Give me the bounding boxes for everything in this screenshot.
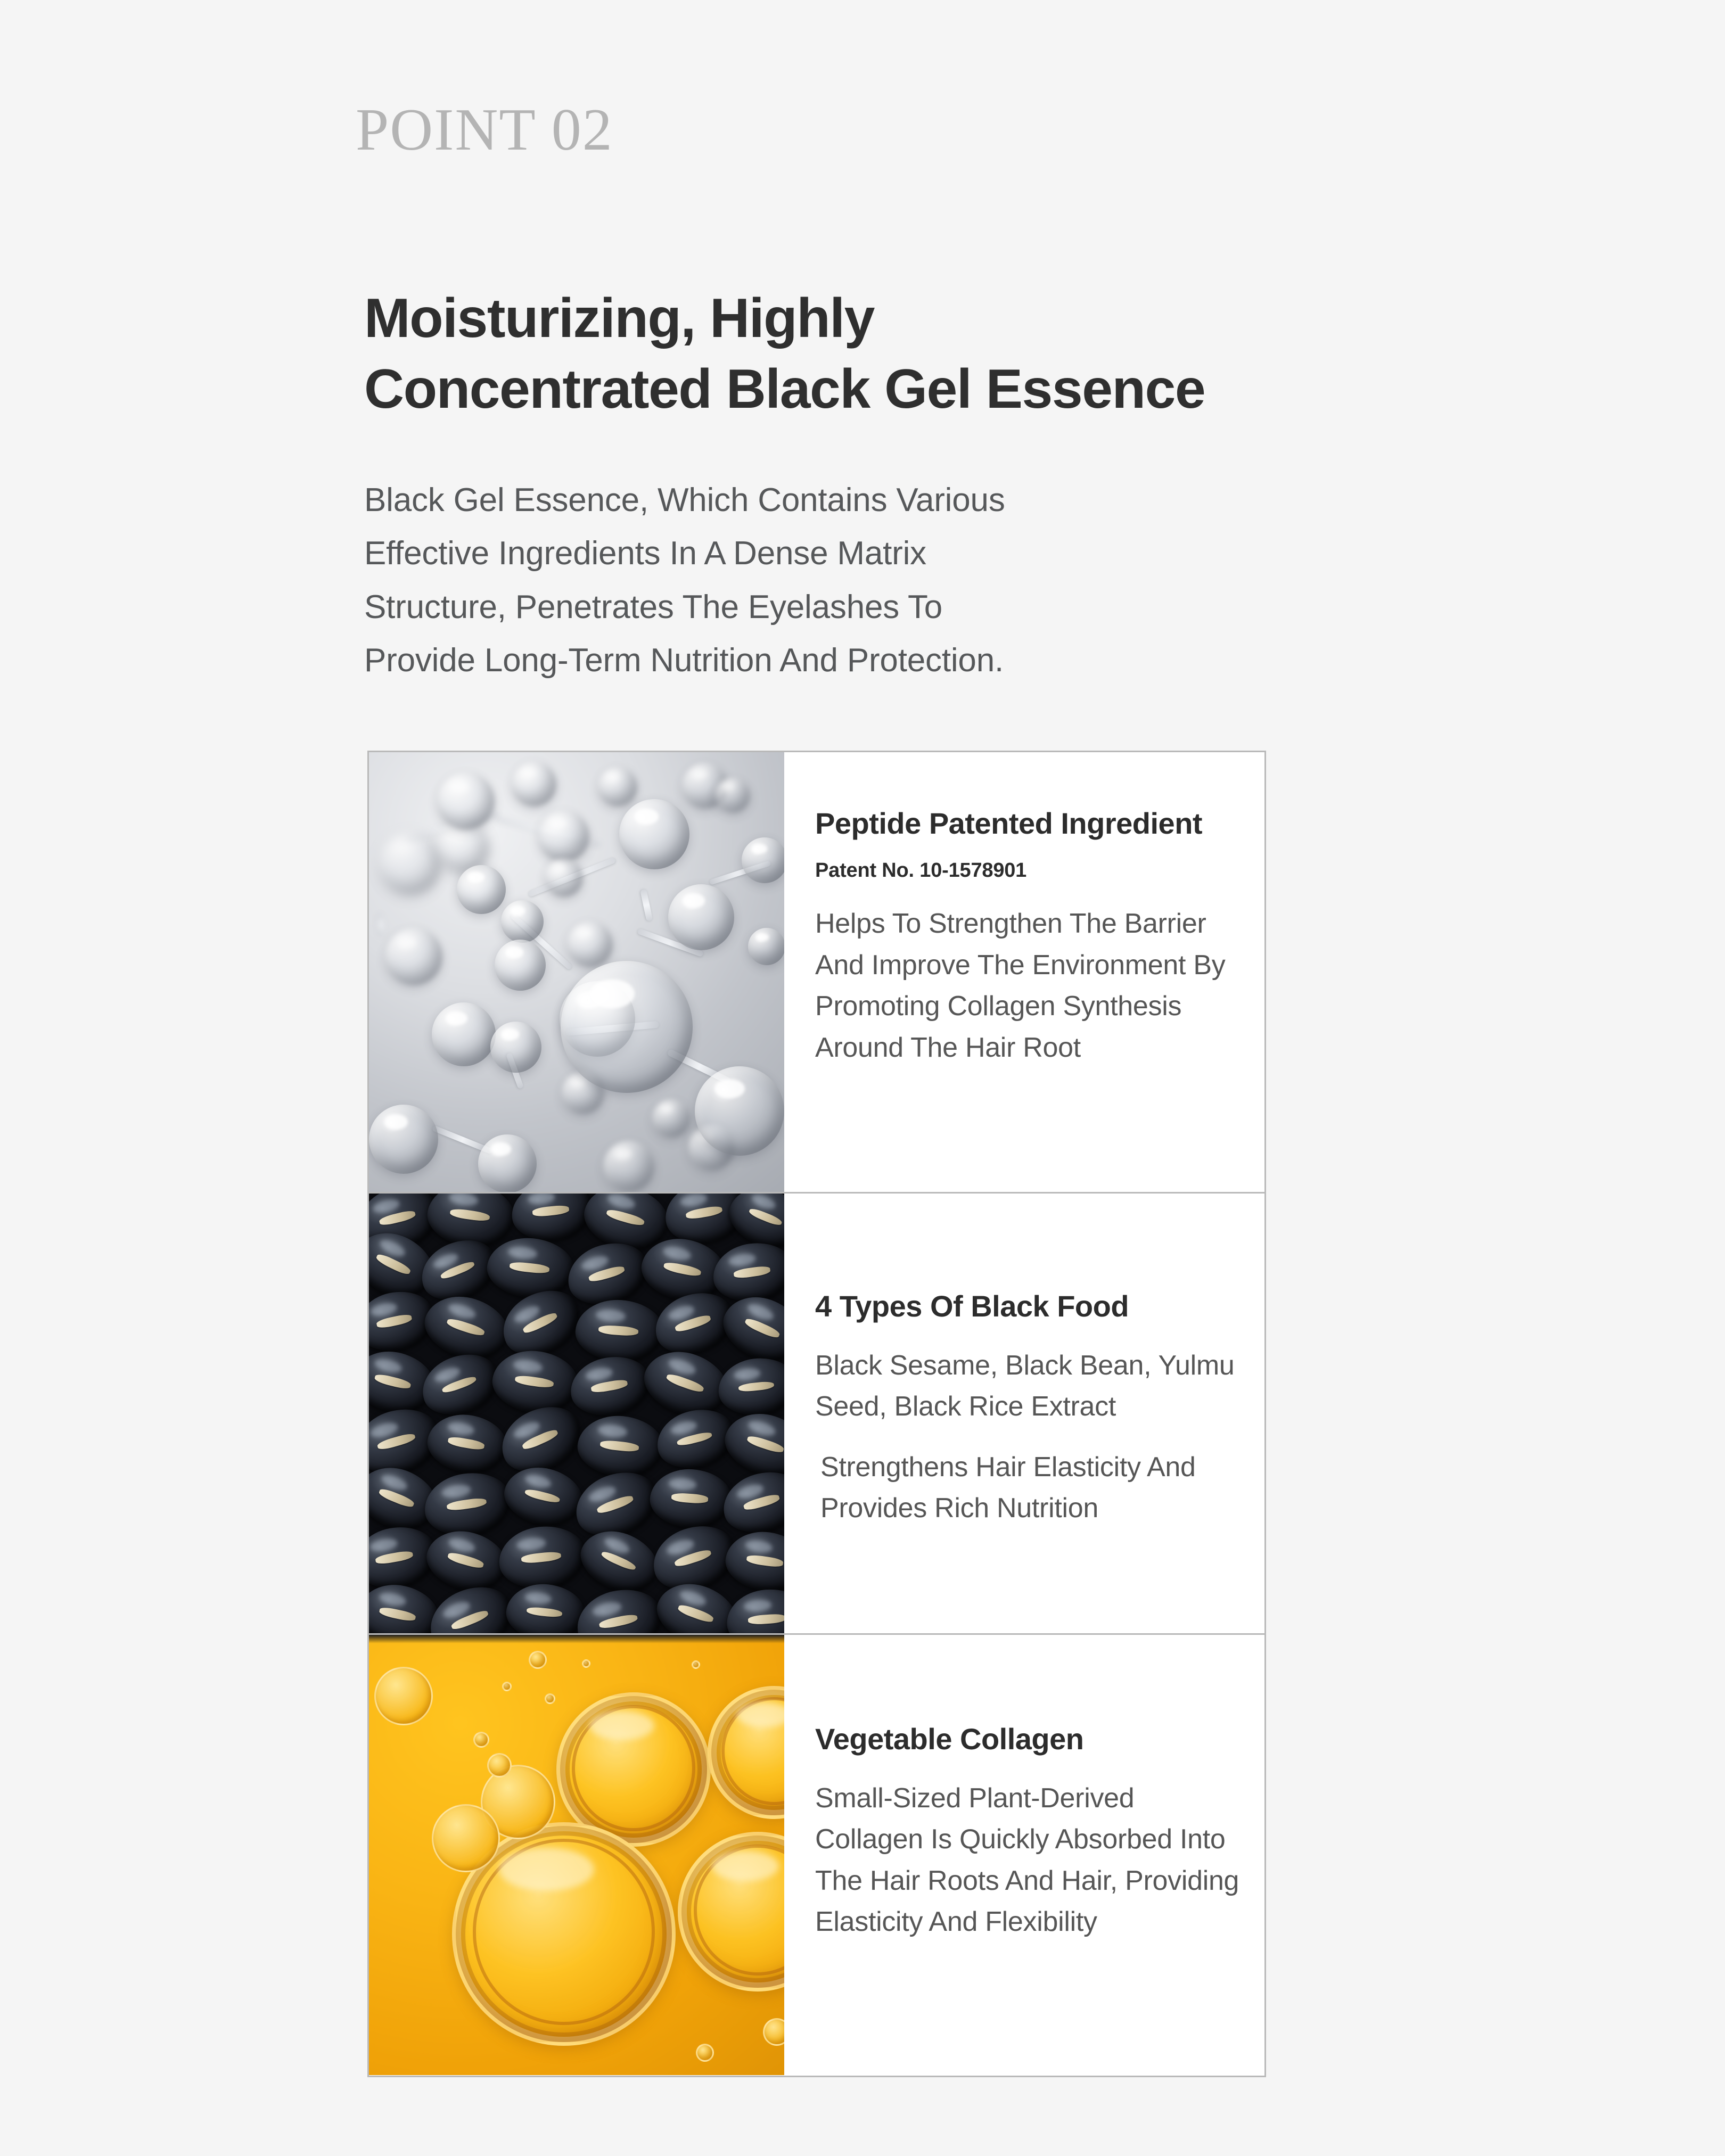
black-beans-artwork	[369, 1194, 784, 1633]
ingredient-content: Peptide Patented Ingredient Patent No. 1…	[784, 752, 1264, 1192]
oil-bubbles-artwork	[369, 1635, 784, 2075]
ingredient-row: Vegetable Collagen Small-Sized Plant-Der…	[369, 1635, 1264, 2075]
oil-dark-edge	[369, 1635, 784, 1643]
ingredient-row: Peptide Patented Ingredient Patent No. 1…	[369, 752, 1264, 1194]
ingredient-description-secondary: Strengthens Hair Elasticity And Provides…	[820, 1447, 1240, 1529]
molecule-structure-photo	[369, 752, 784, 1192]
molecule-artwork	[369, 752, 784, 1192]
page-description: Black Gel Essence, Which Contains Variou…	[364, 474, 1301, 688]
point-eyebrow-label: POINT 02	[356, 100, 613, 160]
page-title-line-2: Concentrated Black Gel Essence	[364, 354, 1504, 425]
page-description-line-2: Effective Ingredients In A Dense Matrix	[364, 527, 1301, 580]
ingredient-content: 4 Types Of Black Food Black Sesame, Blac…	[784, 1194, 1264, 1633]
page-description-line-4: Provide Long-Term Nutrition And Protecti…	[364, 634, 1301, 687]
product-detail-page: POINT 02 Moisturizing, Highly Concentrat…	[0, 0, 1725, 2156]
ingredient-title: Vegetable Collagen	[815, 1720, 1240, 1759]
ingredient-table: Peptide Patented Ingredient Patent No. 1…	[367, 751, 1266, 2077]
ingredient-description: Helps To Strengthen The Barrier And Impr…	[815, 903, 1240, 1068]
ingredient-content: Vegetable Collagen Small-Sized Plant-Der…	[784, 1635, 1264, 2075]
black-beans-photo	[369, 1194, 784, 1633]
page-title-line-1: Moisturizing, Highly	[364, 283, 1504, 354]
ingredient-title: 4 Types Of Black Food	[815, 1287, 1240, 1326]
ingredient-description: Black Sesame, Black Bean, Yulmu Seed, Bl…	[815, 1345, 1240, 1428]
ingredient-patent-number: Patent No. 10-1578901	[815, 857, 1240, 884]
page-description-line-1: Black Gel Essence, Which Contains Variou…	[364, 474, 1301, 527]
page-title: Moisturizing, Highly Concentrated Black …	[364, 283, 1504, 425]
golden-oil-bubbles-photo	[369, 1635, 784, 2075]
ingredient-title: Peptide Patented Ingredient	[815, 804, 1240, 843]
ingredient-row: 4 Types Of Black Food Black Sesame, Blac…	[369, 1194, 1264, 1635]
ingredient-description: Small-Sized Plant-Derived Collagen Is Qu…	[815, 1778, 1240, 1943]
page-description-line-3: Structure, Penetrates The Eyelashes To	[364, 581, 1301, 634]
